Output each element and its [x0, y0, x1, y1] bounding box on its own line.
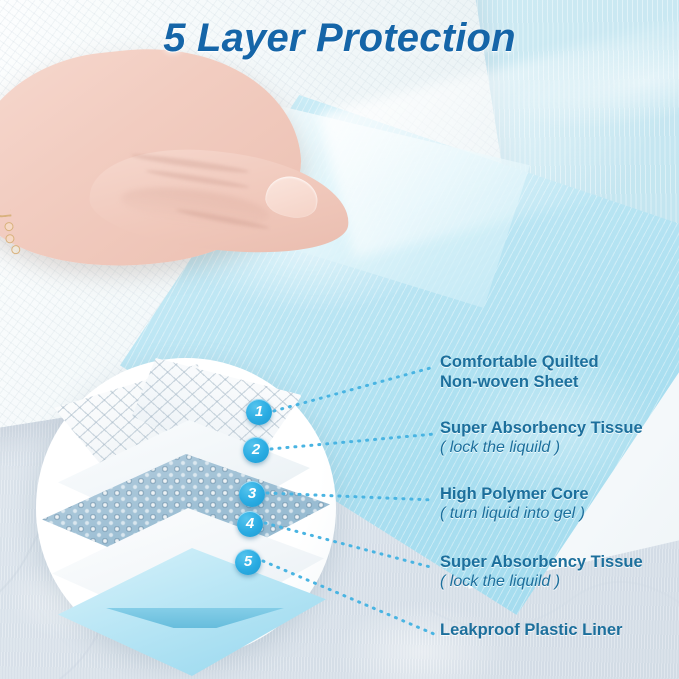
layer-label-1-line2: Non-woven Sheet — [440, 372, 676, 392]
layer-label-2: Super Absorbency Tissue ( lock the liqui… — [440, 418, 676, 458]
layer-badge-4[interactable]: 4 — [237, 511, 263, 537]
layer-label-3-note: ( turn liquid into gel ) — [440, 504, 676, 524]
layer-label-5-line1: Leakproof Plastic Liner — [440, 620, 676, 640]
layer-label-3-line1: High Polymer Core — [440, 484, 676, 504]
layer-badge-3[interactable]: 3 — [239, 481, 265, 507]
layer-label-4-line1: Super Absorbency Tissue — [440, 552, 676, 572]
product-infographic: 5 Layer Protection 1 2 3 4 5 Comfortable… — [0, 0, 679, 679]
layer-label-1-line1: Comfortable Quilted — [440, 352, 676, 372]
layer-label-4-note: ( lock the liquild ) — [440, 572, 676, 592]
layer-label-5: Leakproof Plastic Liner — [440, 620, 676, 640]
layer-label-3: High Polymer Core ( turn liquid into gel… — [440, 484, 676, 524]
layer-badge-2[interactable]: 2 — [243, 437, 269, 463]
page-title: 5 Layer Protection — [0, 16, 679, 61]
layer-badge-5[interactable]: 5 — [235, 549, 261, 575]
hand — [0, 40, 390, 330]
layer-label-2-note: ( lock the liquild ) — [440, 438, 676, 458]
layer-badge-1[interactable]: 1 — [246, 399, 272, 425]
layer-label-2-line1: Super Absorbency Tissue — [440, 418, 676, 438]
layer-stack-illustration — [36, 358, 366, 668]
layer-label-1: Comfortable Quilted Non-woven Sheet — [440, 352, 676, 392]
layer-label-4: Super Absorbency Tissue ( lock the liqui… — [440, 552, 676, 592]
